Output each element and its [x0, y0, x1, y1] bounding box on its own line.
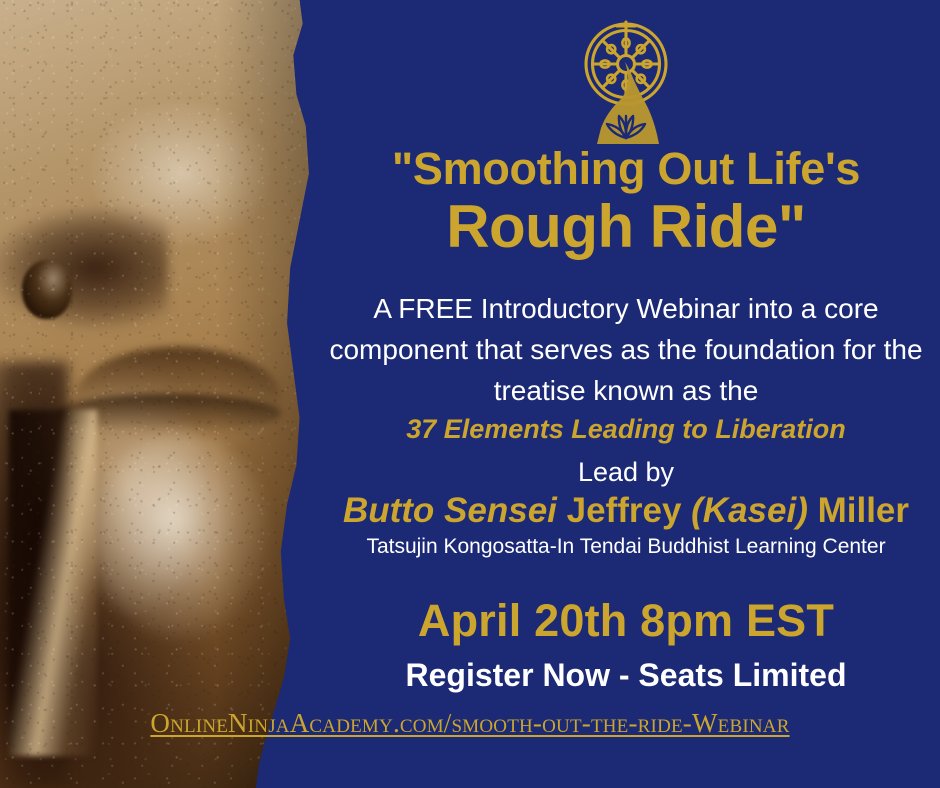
lead-by-label: Lead by [312, 457, 940, 488]
content-column: "Smoothing Out Life's Rough Ride" A FREE… [312, 0, 940, 788]
photo-edge-vignette [0, 0, 312, 788]
buddha-statue-face-photo [0, 0, 312, 788]
register-cta-text: Register Now - Seats Limited [312, 657, 940, 694]
registration-url-link[interactable]: OnlineNinjaAcademy.com/smooth-out-the-ri… [0, 708, 940, 739]
organization-name: Tatsujin Kongosatta-In Tendai Buddhist L… [312, 535, 940, 559]
presenter-first-name: Jeffrey [567, 491, 682, 530]
presenter-last-name: Miller [818, 491, 909, 530]
dharma-wheel-path-lotus-logo [567, 16, 685, 144]
description-paragraph: A FREE Introductory Webinar into a core … [320, 288, 932, 411]
event-datetime: April 20th 8pm EST [312, 595, 940, 647]
headline-line-2: Rough Ride" [312, 197, 940, 257]
presenter-title: Butto Sensei [343, 491, 557, 530]
presenter-dharma-name: (Kasei) [691, 491, 808, 530]
presenter-name: Butto Sensei Jeffrey (Kasei) Miller [312, 491, 940, 531]
webinar-promo-poster: "Smoothing Out Life's Rough Ride" A FREE… [0, 0, 940, 788]
treatise-title: 37 Elements Leading to Liberation [312, 414, 940, 445]
headline-line-1: "Smoothing Out Life's [312, 146, 940, 191]
